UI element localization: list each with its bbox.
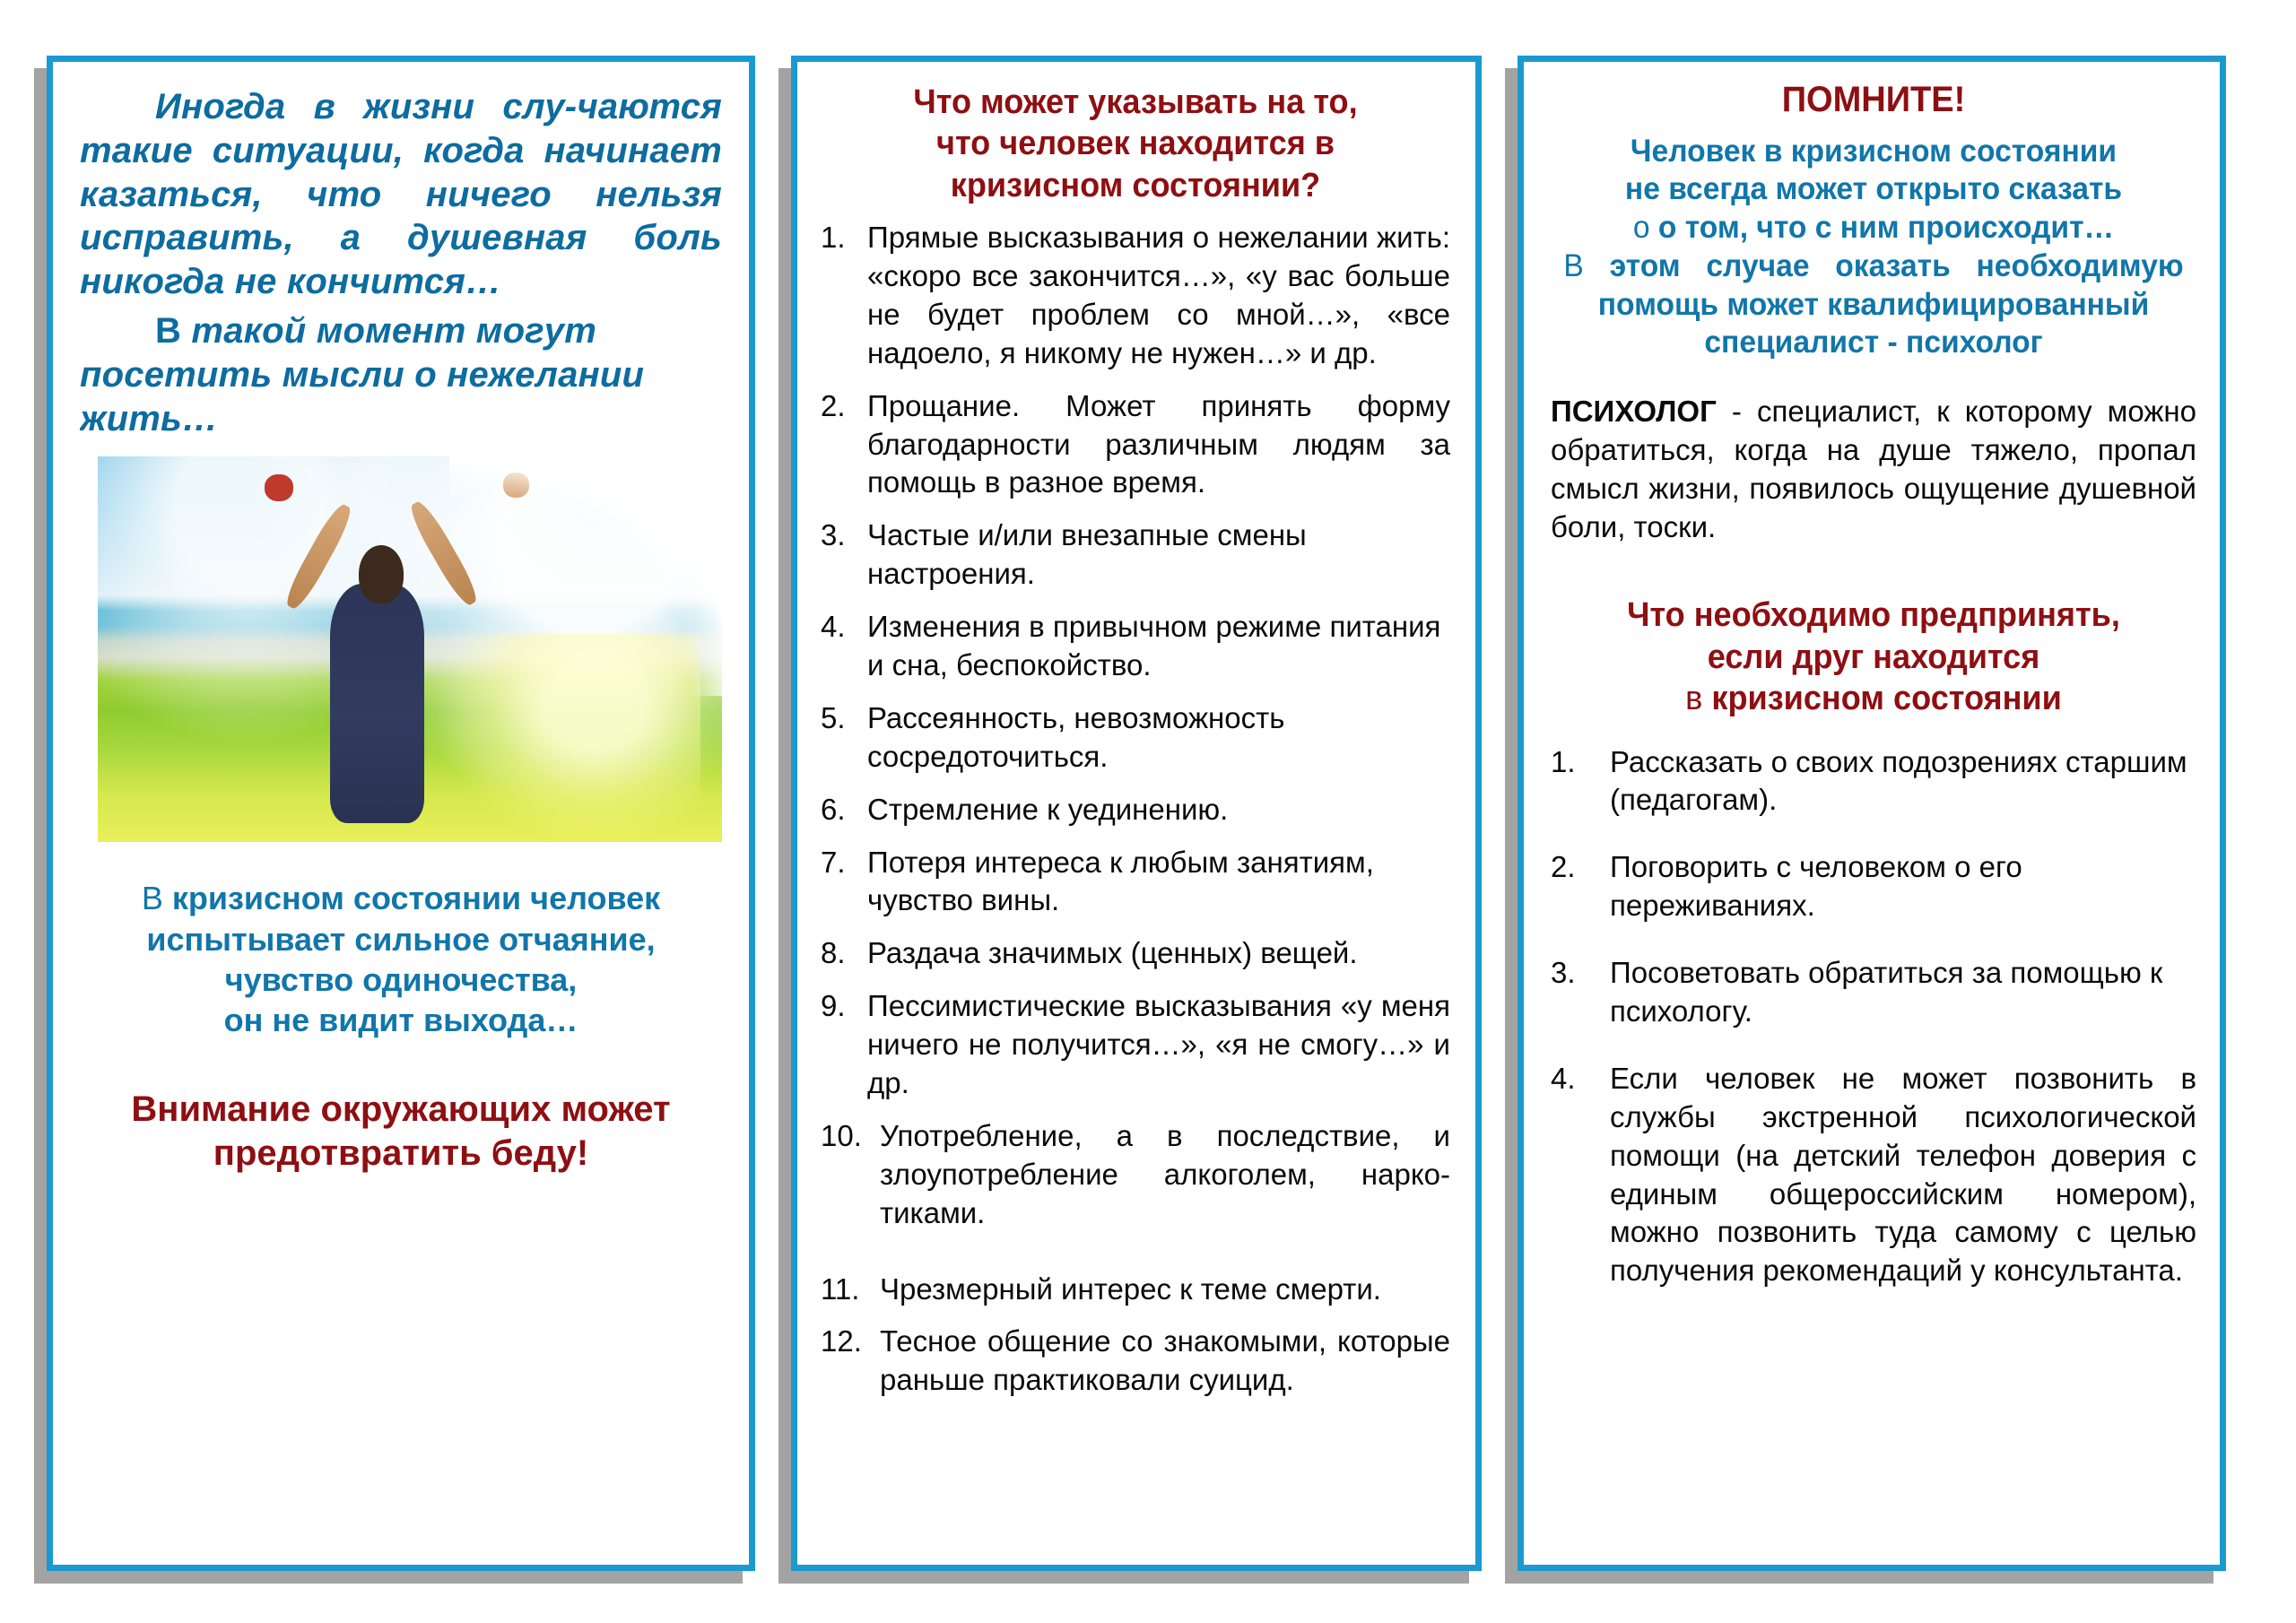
list-item-number: 9. [821, 987, 867, 1026]
crisis-description-line-4: он не видит выхода… [80, 1000, 722, 1040]
list-item: 8.Раздача значимых (ценных) вещей. [821, 934, 1450, 973]
panel-left: Иногда в жизни слу-чаются такие ситуации… [47, 56, 755, 1571]
list-item-number: 2. [821, 387, 867, 426]
remember-second-block: В этом случае оказать необходимую помощь… [1563, 247, 2183, 362]
lead-paragraph-1-text: Иногда в жизни слу-чаются такие ситуации… [80, 87, 722, 301]
feathered-edge-mask [449, 456, 722, 696]
list-item: 1.Рассказать о своих подозрениях старшим… [1551, 743, 2196, 820]
remember-intro-block: Человек в кризисном состоянии не всегда … [1563, 133, 2183, 247]
list-item-number: 10. [821, 1117, 880, 1156]
list-item-text: Поговорить с человеком о его переживания… [1610, 848, 2196, 925]
lead-paragraph-2-prefix: В [155, 311, 181, 351]
list-item: 11.Чрезмерный интерес к теме смерти. [821, 1271, 1450, 1309]
list-gap-spacer [821, 1247, 1450, 1271]
hero-photo [98, 456, 722, 842]
remember-intro-line-3: о о том, что с ним происходит… [1563, 209, 2183, 247]
left-hand [265, 474, 293, 501]
list-item-number: 2. [1551, 848, 1610, 887]
lead-paragraph-1: Иногда в жизни слу-чаются такие ситуации… [80, 85, 722, 304]
remember-second-line-3: специалист - психолог [1563, 324, 2183, 362]
signs-list: 1.Прямые высказывания о нежелании жить: … [821, 219, 1450, 1232]
crisis-description-line-2: испытывает сильное отчаяние, [80, 919, 722, 959]
list-item-text: Изменения в привычном режиме питания и с… [867, 608, 1450, 685]
signs-list-continued: 11.Чрезмерный интерес к теме смерти. 12.… [821, 1271, 1450, 1401]
list-item-text: Рассеянность, невозможность сосредоточит… [867, 699, 1450, 777]
list-item-number: 3. [1551, 954, 1610, 993]
remember-second-prefix: В [1563, 248, 1583, 283]
list-item-number: 11. [821, 1271, 880, 1309]
action-heading-prefix: в [1685, 680, 1702, 717]
list-item-number: 7. [821, 844, 867, 882]
attention-warning-block: Внимание окружающих может предотвратить … [80, 1088, 722, 1176]
list-item-text: Посоветовать обратиться за помощью к пси… [1610, 954, 2196, 1031]
action-heading-line-3: в кризисном состоянии [1567, 678, 2180, 719]
list-item-number: 4. [1551, 1060, 1610, 1098]
action-list: 1.Рассказать о своих подозрениях старшим… [1551, 743, 2196, 1291]
action-heading-line-3-text: кризисном состоянии [1711, 680, 2061, 717]
attention-warning-line-2: предотвратить беду! [80, 1132, 722, 1176]
panel-middle: Что может указывать на то, что человек н… [791, 56, 1482, 1571]
list-item: 2.Поговорить с человеком о его переживан… [1551, 848, 2196, 925]
list-item: 3.Частые и/или внезапные смены настроени… [821, 516, 1450, 594]
list-item-text: Рассказать о своих подозрениях старшим (… [1610, 743, 2196, 820]
list-item-text: Прямые высказывания о нежелании жить: «с… [867, 219, 1450, 373]
list-item-text: Раздача значимых (ценных) вещей. [867, 934, 1450, 973]
remember-intro-line-3-text: о том, что с ним происходит… [1658, 210, 2114, 245]
remember-second-line-1-text: этом случае оказать необходимую [1610, 248, 2184, 283]
list-item: 12.Тесное общение со знакомыми, которые … [821, 1323, 1450, 1400]
list-item-text: Чрезмерный интерес к теме смерти. [880, 1271, 1450, 1309]
list-item-number: 5. [821, 699, 867, 738]
list-item-number: 1. [1551, 743, 1610, 782]
signs-heading-line-2: что человек находится в [837, 123, 1435, 164]
list-item: 2.Прощание. Может принять форму благодар… [821, 387, 1450, 503]
action-heading: Что необходимо предпринять, если друг на… [1567, 595, 2180, 719]
list-item-text: Стремление к уединению. [867, 791, 1450, 829]
list-item-number: 6. [821, 791, 867, 829]
list-item: 1.Прямые высказывания о нежелании жить: … [821, 219, 1450, 373]
panel-right: ПОМНИТЕ! Человек в кризисном состоянии н… [1518, 56, 2226, 1571]
crisis-description-line-1-text: кризисном состоянии человек [172, 880, 660, 916]
list-item: 9.Пессимистические высказывания «у меня … [821, 987, 1450, 1103]
person-head [359, 545, 404, 603]
list-item: 7.Потеря интереса к любым занятиям, чувс… [821, 844, 1450, 921]
list-item: 4.Изменения в привычном режиме питания и… [821, 608, 1450, 685]
list-item-number: 8. [821, 934, 867, 973]
crisis-description-block: В кризисном состоянии человек испытывает… [80, 878, 722, 1040]
list-item: 5.Рассеянность, невозможность сосредоточ… [821, 699, 1450, 777]
list-item-number: 4. [821, 608, 867, 647]
crisis-description-line-3: чувство одиночества, [80, 959, 722, 1000]
signs-heading-line-3: кризисном состоянии? [837, 165, 1435, 206]
person-torso [330, 584, 424, 823]
remember-intro-line-2: не всегда может открыто сказать [1563, 170, 2183, 209]
list-item: 6.Стремление к уединению. [821, 791, 1450, 829]
list-item-number: 1. [821, 219, 867, 257]
remember-second-line-2: помощь может квалифицированный [1563, 286, 2183, 325]
list-item: 3.Посоветовать обратиться за помощью к п… [1551, 954, 2196, 1031]
list-item-text: Если человек не может позвонить в службы… [1610, 1060, 2196, 1290]
action-heading-line-1: Что необходимо предпринять, [1567, 595, 2180, 636]
signs-heading: Что может указывать на то, что человек н… [837, 82, 1435, 206]
list-item-text: Тесное общение со знакомыми, которые ран… [880, 1323, 1450, 1400]
brochure-sheet: Иногда в жизни слу-чаются такие ситуации… [0, 0, 2296, 1623]
list-item: 10.Употребление, а в последствие, и злоу… [821, 1117, 1450, 1233]
list-item-text: Потеря интереса к любым занятиям, чувств… [867, 844, 1450, 921]
list-item-text: Пессимистические высказывания «у меня ни… [867, 987, 1450, 1103]
remember-second-line-1: В этом случае оказать необходимую [1563, 247, 2183, 286]
list-item-number: 12. [821, 1323, 880, 1361]
panel-right-inner: ПОМНИТЕ! Человек в кризисном состоянии н… [1551, 78, 2196, 1556]
list-item-text: Употребление, а в последствие, и злоупот… [880, 1117, 1450, 1233]
remember-intro-prefix: о [1633, 210, 1650, 245]
psychologist-definition-paragraph: ПСИХОЛОГ - специалист, к которому можно … [1551, 393, 2196, 547]
panel-left-inner: Иногда в жизни слу-чаются такие ситуации… [80, 85, 722, 1556]
remember-intro-line-1: Человек в кризисном состоянии [1563, 133, 2183, 171]
attention-warning-line-1: Внимание окружающих может [80, 1088, 722, 1132]
list-item: 4.Если человек не может позвонить в служ… [1551, 1060, 2196, 1290]
action-heading-line-2: если друг находится [1567, 637, 2180, 678]
photo-scene [98, 456, 722, 842]
psychologist-term: ПСИХОЛОГ [1551, 395, 1717, 428]
list-item-text: Прощание. Может принять форму благодарно… [867, 387, 1450, 503]
signs-heading-line-1: Что может указывать на то, [837, 82, 1435, 123]
lead-paragraph-2: В такой момент могут посетить мысли о не… [80, 309, 722, 440]
list-item-text: Частые и/или внезапные смены настроения. [867, 516, 1450, 594]
crisis-description-line-1: В кризисном состоянии человек [80, 878, 722, 918]
panel-middle-inner: Что может указывать на то, что человек н… [821, 82, 1450, 1556]
remember-heading: ПОМНИТЕ! [1567, 78, 2180, 122]
list-item-number: 3. [821, 516, 867, 555]
crisis-description-prefix: В [142, 880, 163, 916]
